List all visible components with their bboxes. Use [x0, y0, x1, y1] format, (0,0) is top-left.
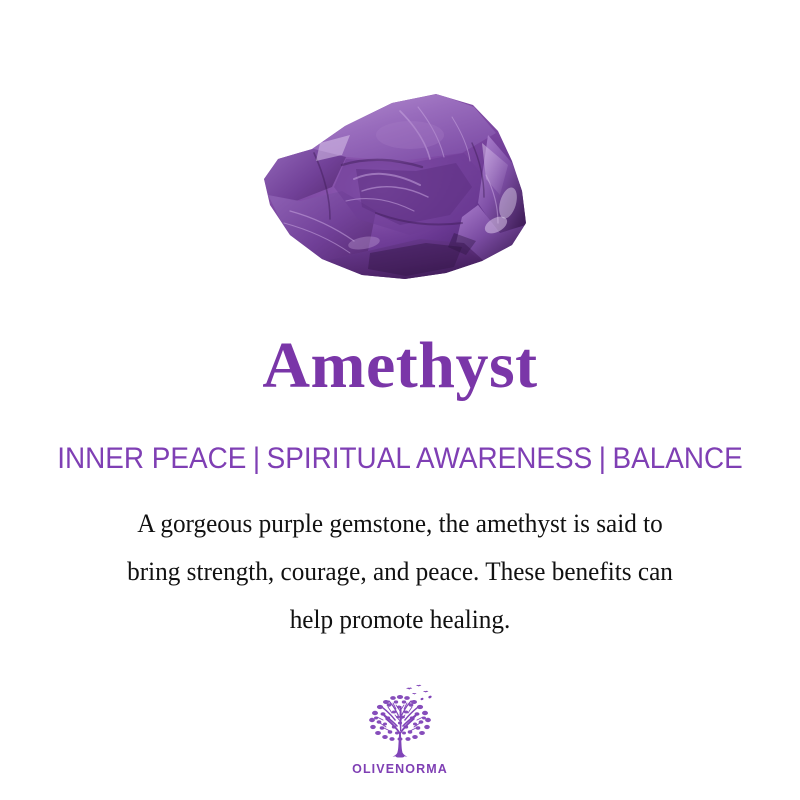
product-info-card: Amethyst INNER PEACE|SPIRITUAL AWARENESS… — [0, 0, 800, 800]
page-title: Amethyst — [0, 333, 800, 399]
keyword-balance: BALANCE — [613, 442, 743, 475]
keyword-separator: | — [592, 442, 612, 475]
keyword-inner-peace: INNER PEACE — [57, 442, 246, 475]
keyword-list: INNER PEACE|SPIRITUAL AWARENESS|BALANCE — [28, 442, 772, 475]
keyword-spiritual-awareness: SPIRITUAL AWARENESS — [267, 442, 593, 475]
description-line: bring strength, courage, and peace. Thes… — [12, 548, 788, 596]
raw-amethyst-crystal-icon — [250, 83, 550, 288]
tree-of-life-icon — [354, 683, 446, 759]
description-line: A gorgeous purple gemstone, the amethyst… — [12, 500, 788, 548]
description-text: A gorgeous purple gemstone, the amethyst… — [0, 500, 800, 644]
brand-name: OLIVENORMA — [352, 762, 448, 776]
keyword-separator: | — [246, 442, 266, 475]
amethyst-image-container — [0, 78, 800, 293]
brand-logo-block: OLIVENORMA — [0, 683, 800, 776]
description-line: help promote healing. — [12, 596, 788, 644]
